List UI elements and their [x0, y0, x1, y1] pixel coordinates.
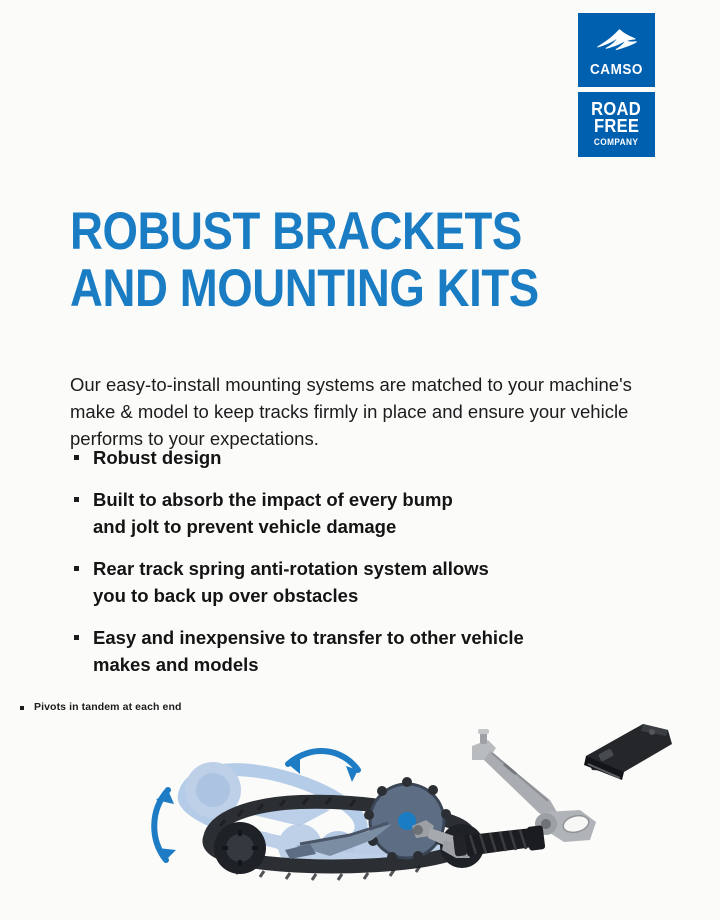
pivot-arrow-left [154, 790, 176, 860]
brand-logo-stack: CAMSO ROAD FREE COMPANY [578, 13, 655, 157]
road-free-line-3: COMPANY [594, 138, 638, 147]
mounting-linkage-arm-photo [472, 729, 596, 842]
camso-logo: CAMSO [578, 13, 655, 87]
product-photo-group [400, 718, 700, 883]
footnote-caption: Pivots in tandem at each end [20, 700, 182, 714]
mounting-bracket-photo [584, 724, 672, 780]
mountain-peak-icon [594, 28, 640, 60]
list-item: Rear track spring anti-rotation system a… [70, 555, 640, 609]
list-item: Built to absorb the impact of every bump… [70, 486, 640, 540]
camso-wordmark: CAMSO [590, 63, 643, 78]
list-item: Robust design [70, 444, 640, 471]
page-title: ROBUST BRACKETS AND MOUNTING KITS [70, 203, 539, 317]
feature-bullet-list: Robust design Built to absorb the impact… [70, 444, 640, 693]
anti-rotation-spring-photo [412, 820, 545, 858]
road-free-line-2: FREE [594, 118, 639, 135]
list-item: Easy and inexpensive to transfer to othe… [70, 624, 640, 678]
page-root: CAMSO ROAD FREE COMPANY ROBUST BRACKETS … [0, 0, 720, 920]
road-free-company-logo: ROAD FREE COMPANY [578, 92, 655, 157]
intro-paragraph: Our easy-to-install mounting systems are… [70, 371, 640, 452]
